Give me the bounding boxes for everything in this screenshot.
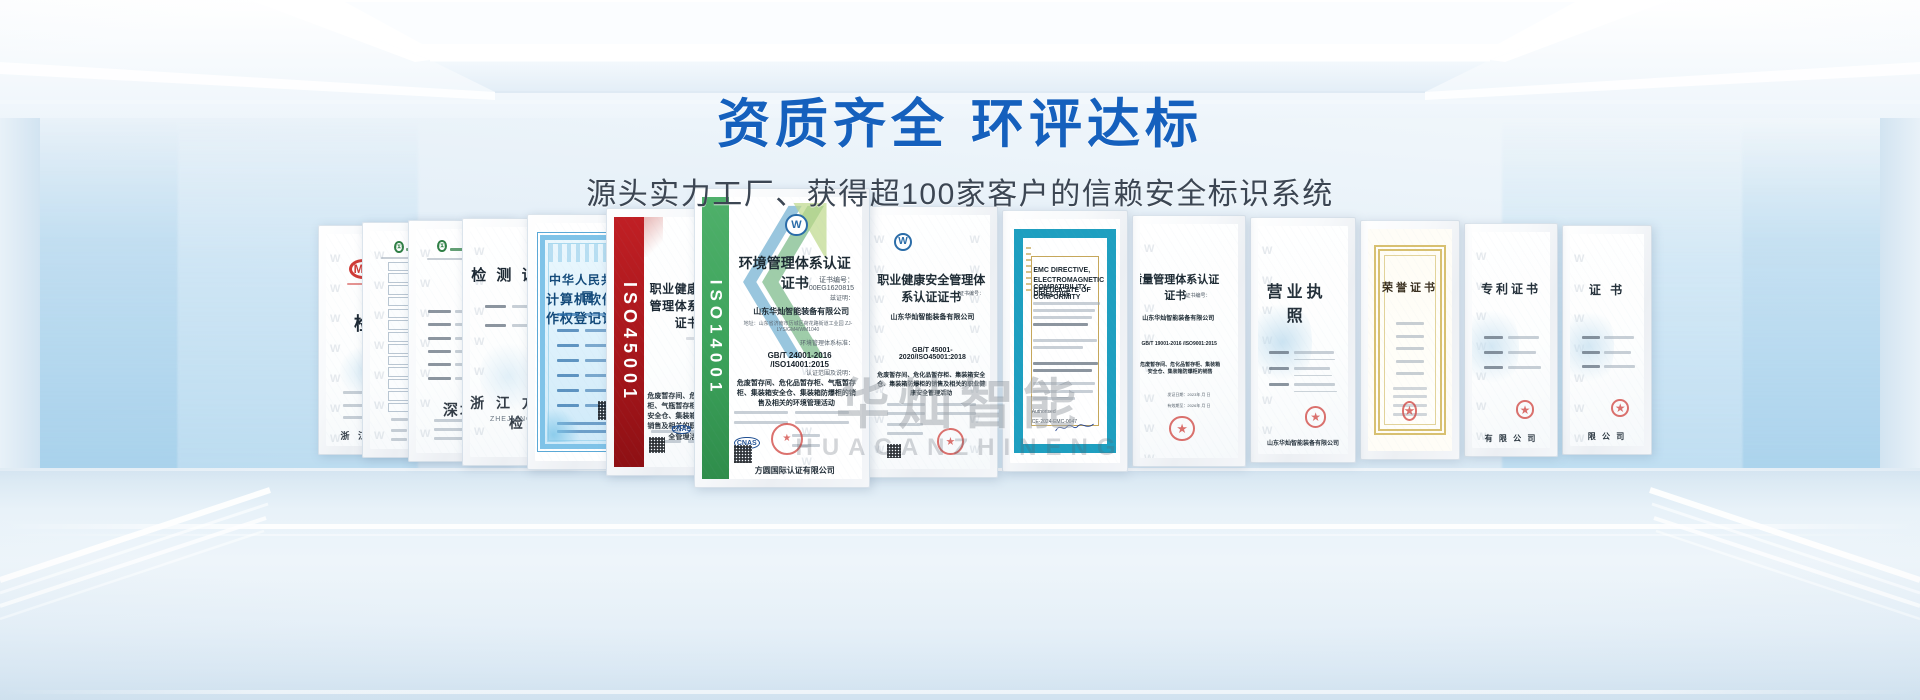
standard-value: GB/T 45001-2020/ISO45001:2018 <box>880 347 986 361</box>
text-line <box>887 412 925 415</box>
text-line <box>1033 390 1093 393</box>
red-seal-stamp: ★ <box>1402 401 1418 421</box>
text-line <box>1294 383 1335 386</box>
field-label <box>557 389 579 392</box>
text-line <box>1508 336 1539 339</box>
text-line <box>391 429 407 432</box>
divider-3 <box>1294 391 1337 392</box>
field-label <box>557 359 579 362</box>
certificate-paper: W W WW W WW W WW W WW W WW W WW W WW W W… <box>1570 234 1644 446</box>
page-title: 资质齐全环评达标 <box>0 96 1920 153</box>
headline-block: 资质齐全环评达标 源头实力工厂、获得超100家客户的信赖安全标识系统 <box>0 0 1920 213</box>
text-line <box>792 434 821 437</box>
field-label <box>557 404 579 407</box>
paper-watermark: W W WW W WW W WW W WW W WW W WW W WW W W… <box>1570 234 1644 446</box>
certificate-title: 环境管理体系认证证书 <box>732 253 857 293</box>
body-line <box>1393 395 1427 398</box>
page-title-part2: 环评达标 <box>971 95 1203 154</box>
ce-gold-inner-border <box>1031 256 1099 425</box>
text-line <box>792 444 821 447</box>
frame-mount: W W WW W WW W WW W WW W WW W WW W WW W W… <box>1258 226 1348 454</box>
certificate-frame-certificate-far-right[interactable]: W W WW W WW W WW W WW W WW W WW W WW W W… <box>1562 225 1652 455</box>
table-footer <box>391 418 409 421</box>
text-line <box>391 438 407 441</box>
text-line <box>887 432 923 435</box>
issue-date: 发证日期：2023年 月 日 <box>1140 392 1211 398</box>
ce-teal-border: EMC DIRECTIVE, ELECTROMAGNETIC COMPATIBI… <box>1014 229 1115 454</box>
cnas-logo-icon: ① <box>437 240 447 252</box>
text-line <box>428 310 451 313</box>
text-line <box>428 363 451 366</box>
text-line <box>937 412 975 415</box>
frame-mount: W W WW W WW W WW W WW W WW W WW W WW W W… <box>702 197 862 479</box>
text-line <box>428 337 451 340</box>
qr-code <box>649 437 665 453</box>
certificate-title: 专利证书 <box>1472 280 1550 297</box>
text-line <box>1582 351 1600 354</box>
certificate-title: 职业健康安全管理体系认证证书 <box>875 271 988 305</box>
text-line <box>1269 367 1289 370</box>
field-label <box>557 329 579 332</box>
footer-note-1 <box>557 422 610 425</box>
text-line <box>1604 365 1635 368</box>
certificate-number: 证书编号：00EG1620815 <box>774 275 854 292</box>
floor-light-streaks-right <box>1360 430 1920 630</box>
text-line <box>651 440 681 443</box>
frame-mount: W W WW W WW W WW W WW W WW W WW W WW W W… <box>1570 234 1644 446</box>
field-label <box>557 344 579 347</box>
text-line <box>1508 366 1541 369</box>
text-line <box>1582 365 1600 368</box>
stamp-star-icon: ★ <box>1404 403 1416 419</box>
certificate-footer: 限 公 司 <box>1570 431 1644 442</box>
certificate-title-line-2: ELECTROMAGNETIC COMPATIBILITY DIRECTIVE <box>1033 277 1103 298</box>
text-line <box>1582 336 1600 339</box>
org-address: 地址：山东省济南市历城区荷花路街道工业园 ZJ-LYS/GM4/WM1040 <box>737 320 859 333</box>
red-seal-stamp: ★ <box>771 423 803 455</box>
red-seal-stamp: ★ <box>1516 400 1535 419</box>
certificate-paper: EMC DIRECTIVE, ELECTROMAGNETIC COMPATIBI… <box>1010 219 1120 463</box>
certificate-frame-honor-certificate-gold[interactable]: 荣誉证书 ★ <box>1360 220 1460 460</box>
text-line <box>795 421 849 424</box>
org-name: 山东华灿智能装备有限公司 <box>1140 313 1216 322</box>
frame-border: W W WW W WW W WW W WW W WW W WW W WW W W… <box>1250 217 1356 463</box>
text-line <box>1484 366 1503 369</box>
body-line <box>1393 404 1427 407</box>
cnas-logo-icon: ① <box>394 241 404 253</box>
text-line <box>1033 316 1091 319</box>
text-line <box>887 403 925 406</box>
spine-label: ISO14001 <box>706 280 726 397</box>
certification-body-emblem: W <box>785 214 807 236</box>
certification-body-emblem: W <box>894 233 912 251</box>
spine-label: ISO45001 <box>619 281 640 402</box>
certificate-paper: W W WW W WW W WW W WW W WW W WW W WW W W… <box>870 215 990 469</box>
certificate-frame-business-license-certificate[interactable]: W W WW W WW W WW W WW W WW W WW W WW W W… <box>1250 217 1356 463</box>
red-seal-stamp: ★ <box>1611 399 1629 417</box>
paper-watermark: W W WW W WW W WW W WW W WW W WW W WW W W… <box>870 215 990 469</box>
signature-label: Authorised <box>1032 409 1074 415</box>
standard-label: 环境管理体系标准： <box>774 338 854 347</box>
certificate-spine-red: ISO45001 <box>614 217 644 467</box>
field-label <box>557 313 579 316</box>
certificate-number: 证书编号： <box>1140 292 1211 299</box>
text-line <box>485 305 506 308</box>
cnas-accreditation-mark: CNAS <box>672 425 691 434</box>
page-subtitle: 源头实力工厂、获得超100家客户的信赖安全标识系统 <box>0 169 1920 213</box>
frame-border: W W WW W WW W WW W WW W WW W WW W WW W W… <box>862 206 998 478</box>
paper-watermark: W W WW W WW W WW W WW W WW W WW W WW W W… <box>1258 226 1348 454</box>
text-line <box>1294 351 1334 354</box>
expiry-date: 有效期至：2026年 月 日 <box>1140 403 1211 409</box>
stamp-star-icon: ★ <box>782 433 791 444</box>
footer-note-2 <box>557 430 607 433</box>
text-line <box>1508 351 1536 354</box>
text-line <box>428 350 451 353</box>
text-line <box>428 377 451 380</box>
signature-mark <box>1055 413 1095 442</box>
certificate-title: 荣誉证书 <box>1380 279 1440 295</box>
scope-value: 危废暂存间、危化品暂存柜、集装箱安全仓、集装箱防爆柜的销售及相关的职业健康安全管… <box>877 372 985 398</box>
ornate-gold-border: 荣誉证书 ★ <box>1374 245 1446 436</box>
certificate-number: 证书编号： <box>918 290 984 297</box>
paper-watermark: W W WW W WW W WW W WW W WW W WW W WW W W… <box>1140 224 1238 458</box>
standard-value: GB/T 24001-2016 /ISO14001:2015 <box>744 351 856 369</box>
stamp-star-icon: ★ <box>1310 410 1321 424</box>
scope-value: 危废暂存间、危化品暂存柜、气瓶暂存柜、集装箱安全仓、集装箱防爆柜的销售及相关的环… <box>734 379 859 409</box>
text-line <box>428 323 451 326</box>
scope-value: 危废暂存间、危化品暂存柜、集装箱安全仓、集装箱防爆柜的销售 <box>1140 362 1220 377</box>
body-line <box>1393 387 1427 390</box>
certificate-paper: W W WW W WW W WW W WW W WW W WW W WW W W… <box>702 197 862 479</box>
field-line <box>1396 322 1425 325</box>
text-line <box>1484 336 1503 339</box>
certificate-title-line-1: EMC DIRECTIVE, <box>1033 267 1103 274</box>
certificate-paper: 荣誉证书 ★ <box>1368 229 1452 451</box>
text-line <box>485 324 506 327</box>
org-name: 山东华灿智能装备有限公司 <box>882 312 983 322</box>
text-line <box>795 411 849 414</box>
divider-1 <box>1294 359 1335 360</box>
text-line <box>1033 382 1095 385</box>
banner-stage: W W WW W WW W WW W WW W WW W WW W WW W W… <box>0 0 1920 700</box>
text-line <box>1033 323 1088 326</box>
certificate-footer: 有 限 公 司 <box>1472 433 1550 444</box>
org-name: 山东华灿智能装备有限公司 <box>747 306 856 317</box>
floor-highlight-band-3 <box>0 690 1920 694</box>
certificate-frame-ce-emc-directive-certificate[interactable]: EMC DIRECTIVE, ELECTROMAGNETIC COMPATIBI… <box>1002 210 1128 472</box>
stamp-star-icon: ★ <box>1176 421 1188 437</box>
field-line <box>1396 347 1425 350</box>
field-line <box>1396 360 1425 363</box>
frame-border: 荣誉证书 ★ <box>1360 220 1460 460</box>
certificate-title: 营业执照 <box>1265 278 1328 326</box>
text-line <box>1033 369 1091 372</box>
text-line <box>1269 383 1289 386</box>
red-seal-stamp: ★ <box>937 428 963 454</box>
paper-watermark: W W WW W WW W WW W WW W WW W WW W WW W W… <box>702 197 862 479</box>
frame-border: W W WW W WW W WW W WW W WW W WW W WW W W… <box>1562 225 1652 455</box>
text-line <box>887 423 923 426</box>
text-line <box>1484 351 1503 354</box>
cnas-accreditation-mark: CNAS <box>734 437 760 450</box>
qr-code <box>734 445 752 463</box>
text-line <box>937 403 975 406</box>
frame-border: W W WW W WW W WW W WW W WW W WW W WW W W… <box>694 188 870 488</box>
frame-mount: W W WW W WW W WW W WW W WW W WW W WW W W… <box>1472 232 1550 448</box>
stamp-star-icon: ★ <box>1615 401 1626 415</box>
frame-mount: W W WW W WW W WW W WW W WW W WW W WW W W… <box>870 215 990 469</box>
frame-border: EMC DIRECTIVE, ELECTROMAGNETIC COMPATIBI… <box>1002 210 1128 472</box>
frame-border: W W WW W WW W WW W WW W WW W WW W WW W W… <box>1464 223 1558 457</box>
certificate-paper: W W WW W WW W WW W WW W WW W WW W WW W W… <box>1140 224 1238 458</box>
text-line <box>1604 336 1634 339</box>
text-line <box>1033 346 1083 349</box>
frame-border: W W WW W WW W WW W WW W WW W WW W WW W W… <box>1132 215 1246 467</box>
reference-number: CE-2024-EMC-0047 <box>1032 419 1082 425</box>
text-line <box>734 411 788 414</box>
certificate-frame-iso45001-management-system-certificate[interactable]: W W WW W WW W WW W WW W WW W WW W WW W W… <box>862 206 998 478</box>
scope-label: 认证范围及说明： <box>779 368 854 377</box>
text-line <box>1033 309 1095 312</box>
red-seal-stamp: ★ <box>1169 416 1194 441</box>
certificate-spine-green: ISO14001 <box>702 197 729 479</box>
text-line <box>1033 302 1100 305</box>
certificate-paper: W W WW W WW W WW W WW W WW W WW W WW W W… <box>1258 226 1348 454</box>
field-line <box>1396 372 1425 375</box>
red-seal-stamp: ★ <box>1305 406 1327 428</box>
text-line <box>1604 351 1631 354</box>
issuer-name: 方圆国际认证有限公司 <box>731 465 859 476</box>
text-line <box>1294 367 1330 370</box>
text-line <box>1033 397 1075 400</box>
certificate-frame-iso14001-environmental-certificate[interactable]: W W WW W WW W WW W WW W WW W WW W WW W W… <box>694 188 870 488</box>
standard-value: GB/T 19001-2016 /ISO9001:2015 <box>1140 341 1218 347</box>
stamp-star-icon: ★ <box>1520 403 1531 417</box>
text-line <box>1033 339 1096 342</box>
qr-code <box>887 444 901 458</box>
certificate-frame-patent-certificate-right[interactable]: W W WW W WW W WW W WW W WW W WW W WW W W… <box>1464 223 1558 457</box>
frame-mount: 荣誉证书 ★ <box>1368 229 1452 451</box>
certificate-footer: 山东华灿智能装备有限公司 <box>1262 438 1345 447</box>
text-line <box>1269 351 1289 354</box>
text-line <box>651 430 681 433</box>
frame-mount: EMC DIRECTIVE, ELECTROMAGNETIC COMPATIBI… <box>1010 219 1120 463</box>
field-line <box>1396 335 1425 338</box>
page-title-part1: 资质齐全 <box>717 95 949 154</box>
field-label <box>557 374 579 377</box>
org-label: 兹证明： <box>782 293 854 302</box>
divider-2 <box>1294 375 1332 376</box>
certificate-title-line-3: CERTIFICATE OF CONFORMITY <box>1033 287 1103 301</box>
text-line <box>734 421 788 424</box>
chevron-graphic <box>729 203 828 361</box>
frame-mount: W W WW W WW W WW W WW W WW W WW W WW W W… <box>1140 224 1238 458</box>
certificate-paper: W W WW W WW W WW W WW W WW W WW W WW W W… <box>1472 232 1550 448</box>
body-line <box>1393 413 1427 416</box>
certificate-title: 质量管理体系认证证书 <box>1140 271 1224 303</box>
certificate-frame-iso9001-quality-certificate[interactable]: W W WW W WW W WW W WW W WW W WW W WW W W… <box>1132 215 1246 467</box>
stamp-star-icon: ★ <box>945 435 955 448</box>
text-line <box>1033 362 1098 365</box>
paper-watermark: W W WW W WW W WW W WW W WW W WW W WW W W… <box>1472 232 1550 448</box>
certificate-title: 证 书 <box>1570 281 1644 298</box>
